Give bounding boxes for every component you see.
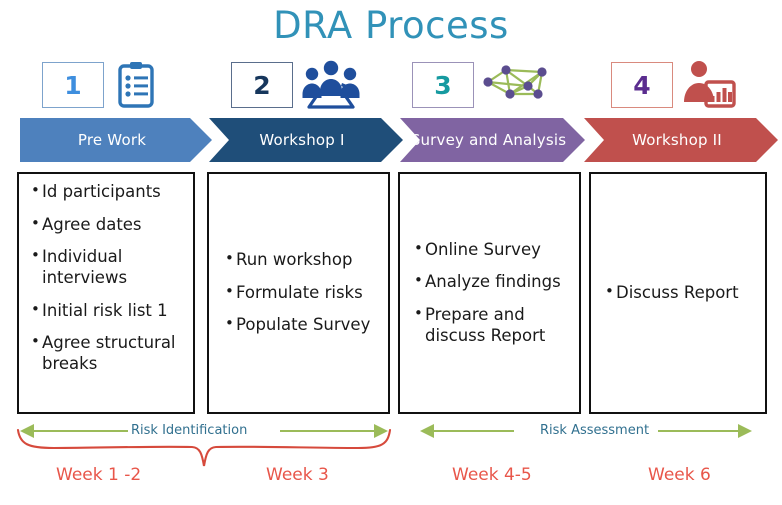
clipboard-checklist-icon [112, 60, 166, 110]
step-3-content-box: Online Survey Analyze findings Prepare a… [398, 172, 581, 414]
list-item: Analyze findings [414, 272, 573, 293]
list-item: Online Survey [414, 240, 573, 261]
step-4-label: Workshop II [632, 132, 722, 149]
step-4-content-box: Discuss Report [589, 172, 767, 414]
dra-process-diagram: DRA Process 1 Pre Work Id participants A… [0, 0, 782, 505]
step-4-chevron[interactable]: Workshop II [584, 118, 778, 162]
step-2-chevron[interactable]: Workshop I [209, 118, 403, 162]
list-item: Initial risk list 1 [31, 301, 187, 322]
week-brace [14, 428, 394, 470]
meeting-people-icon [299, 58, 353, 108]
step-1-number: 1 [64, 71, 81, 100]
step-4-number: 4 [633, 71, 650, 100]
step-3-chevron[interactable]: Survey and Analysis [400, 118, 585, 162]
step-1-label: Pre Work [78, 132, 146, 149]
step-3-number: 3 [434, 71, 451, 100]
step-2-number-box: 2 [231, 62, 293, 108]
list-item: Individual interviews [31, 247, 187, 288]
list-item: Prepare and discuss Report [414, 305, 573, 346]
list-item: Agree dates [31, 215, 187, 236]
step-3-label: Survey and Analysis [411, 132, 567, 149]
step-4-number-box: 4 [611, 62, 673, 108]
network-graph-icon [480, 60, 534, 110]
page-title: DRA Process [0, 4, 782, 47]
step-3-number-box: 3 [412, 62, 474, 108]
step-2-number: 2 [253, 71, 270, 100]
list-item: Discuss Report [605, 283, 759, 304]
step-3-list: Online Survey Analyze findings Prepare a… [400, 240, 579, 347]
step-1-chevron[interactable]: Pre Work [20, 118, 212, 162]
phase-2-label: Risk Assessment [540, 423, 649, 438]
step-1-list: Id participants Agree dates Individual i… [19, 182, 193, 374]
step-2-label: Workshop I [259, 132, 344, 149]
week-label-1: Week 1 -2 [56, 465, 141, 485]
step-2-list: Run workshop Formulate risks Populate Su… [209, 250, 388, 336]
list-item: Agree structural breaks [31, 333, 187, 374]
week-label-3: Week 4-5 [452, 465, 532, 485]
step-4-list: Discuss Report [591, 283, 765, 304]
step-2-content-box: Run workshop Formulate risks Populate Su… [207, 172, 390, 414]
week-label-2: Week 3 [266, 465, 329, 485]
list-item: Run workshop [225, 250, 382, 271]
list-item: Id participants [31, 182, 187, 203]
week-label-4: Week 6 [648, 465, 711, 485]
list-item: Formulate risks [225, 283, 382, 304]
step-1-number-box: 1 [42, 62, 104, 108]
analyst-chart-icon [679, 58, 733, 108]
step-1-content-box: Id participants Agree dates Individual i… [17, 172, 195, 414]
list-item: Populate Survey [225, 315, 382, 336]
